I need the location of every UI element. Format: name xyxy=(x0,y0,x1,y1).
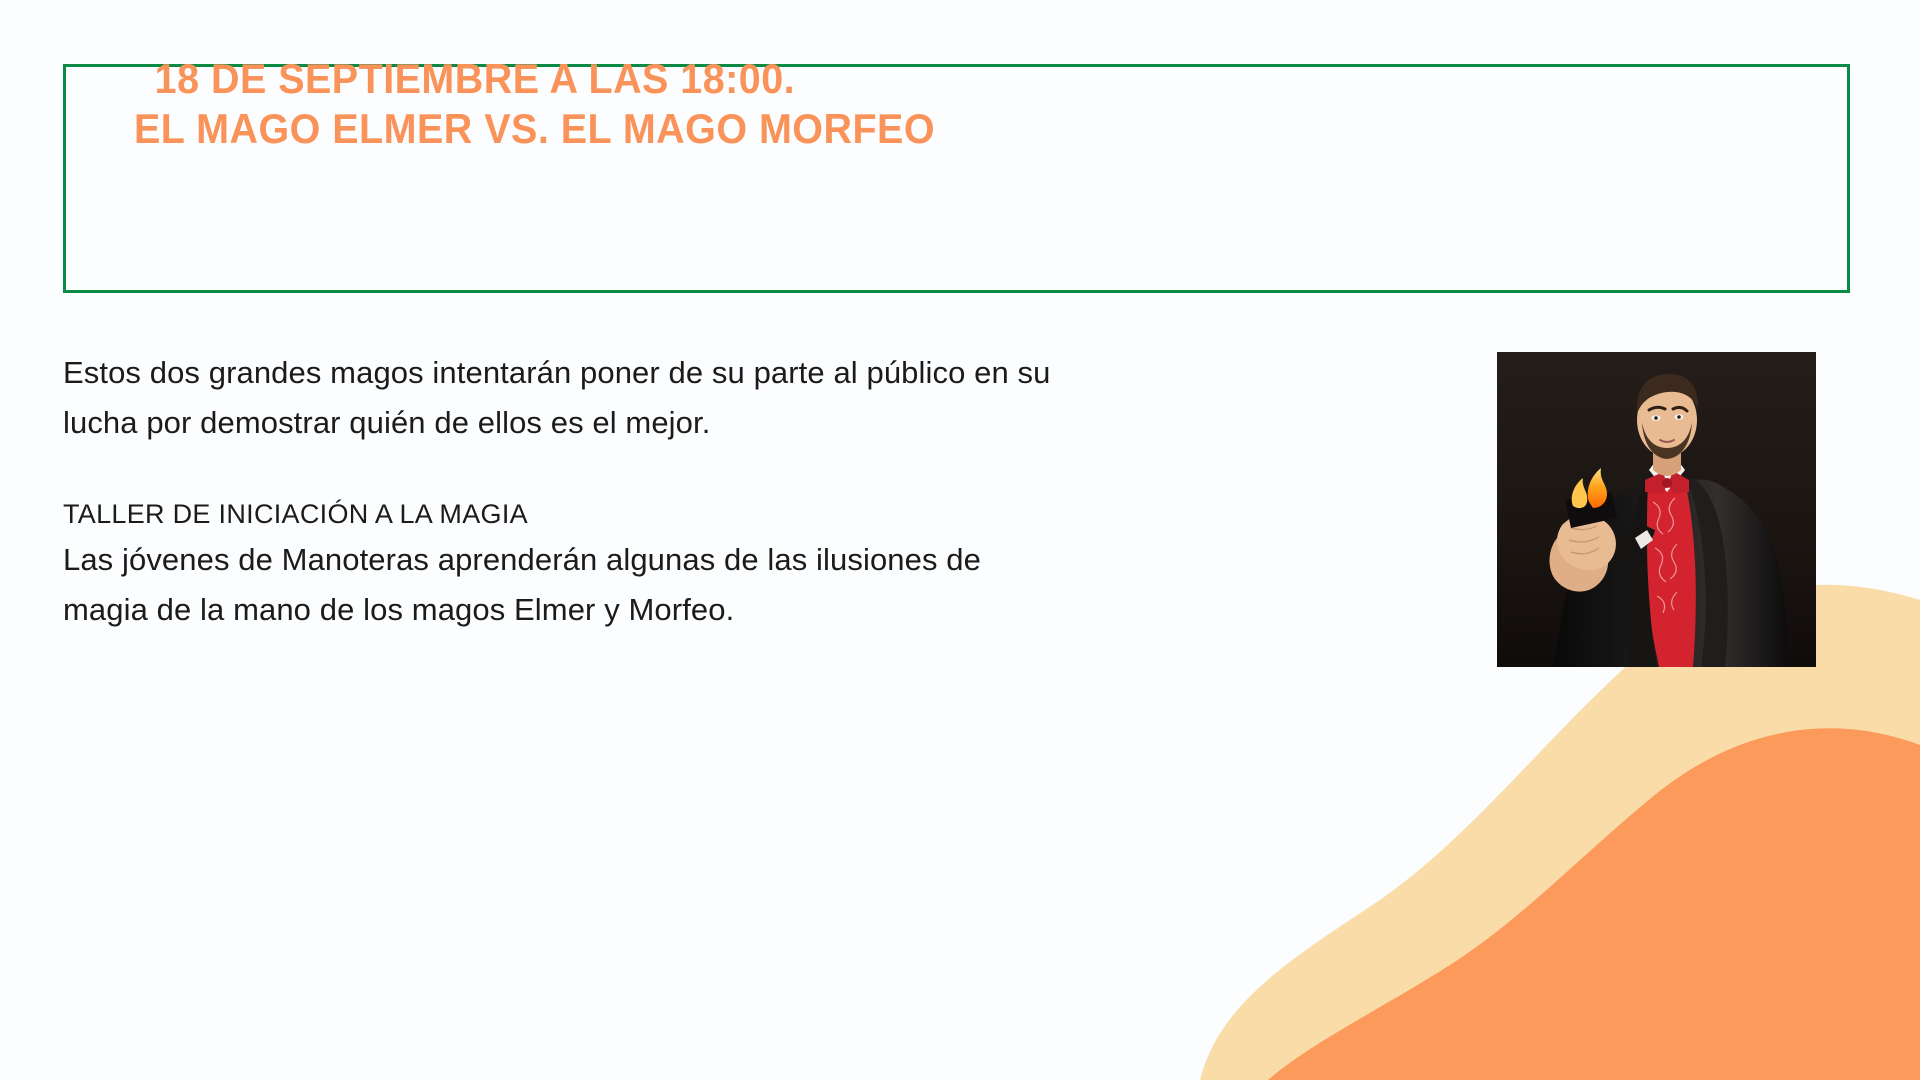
slide-canvas: 18 DE SEPTIEMBRE A LAS 18:00. EL MAGO EL… xyxy=(0,0,1920,1080)
paragraph-intro: Estos dos grandes magos intentarán poner… xyxy=(63,348,1243,448)
paragraph-workshop-line-2: magia de la mano de los magos Elmer y Mo… xyxy=(63,585,1243,635)
workshop-heading: TALLER DE INICIACIÓN A LA MAGIA xyxy=(63,494,1243,535)
magician-photo xyxy=(1497,352,1816,667)
bow-tie-knot xyxy=(1662,478,1672,488)
pupil-right xyxy=(1677,415,1681,419)
body-copy: Estos dos grandes magos intentarán poner… xyxy=(63,348,1243,635)
event-title-line-1: 18 DE SEPTIEMBRE A LAS 18:00. xyxy=(134,54,935,104)
event-title: 18 DE SEPTIEMBRE A LAS 18:00. EL MAGO EL… xyxy=(134,54,986,153)
pupil-left xyxy=(1654,416,1658,420)
paragraph-intro-line-1: Estos dos grandes magos intentarán poner… xyxy=(63,348,1243,398)
magician-photo-illustration xyxy=(1497,352,1816,667)
paragraph-workshop-line-1: Las jóvenes de Manoteras aprenderán algu… xyxy=(63,535,1243,585)
blob-front-shape xyxy=(1268,728,1920,1080)
paragraph-workshop: Las jóvenes de Manoteras aprenderán algu… xyxy=(63,535,1243,635)
paragraph-spacer xyxy=(63,448,1243,494)
event-title-line-2: EL MAGO ELMER VS. EL MAGO MORFEO xyxy=(134,104,935,154)
paragraph-intro-line-2: lucha por demostrar quién de ellos es el… xyxy=(63,398,1243,448)
